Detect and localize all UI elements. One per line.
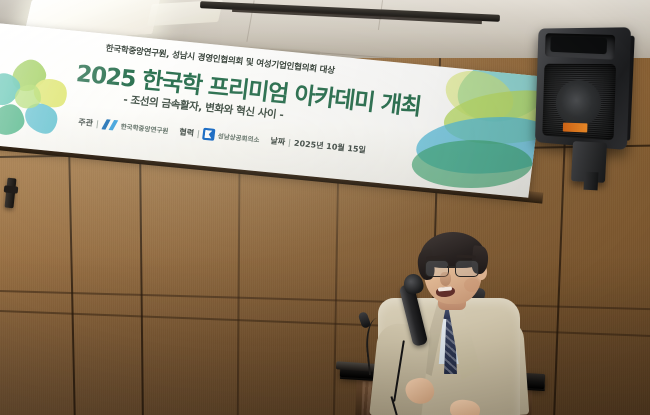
akse-logo-icon [101, 118, 118, 130]
banner-separator: | [196, 129, 200, 138]
eyeglasses-lens-right [455, 260, 479, 277]
banner-separator: | [288, 138, 292, 147]
banner-partner-org: 성남상공회의소 [217, 130, 260, 144]
pa-speaker-mount-arm [584, 172, 599, 191]
pa-speaker-handle-recess [550, 36, 607, 54]
speaker-cheek [464, 278, 480, 292]
banner-separator: | [95, 119, 99, 128]
banner-partner-label: 협력 [179, 126, 195, 138]
banner-date-value: 2025년 10월 15일 [293, 137, 366, 155]
pa-speaker-brand-logo-icon [563, 123, 588, 133]
wall-bracket-fixture-cap [4, 185, 19, 193]
speaker-person [376, 228, 526, 415]
pa-speaker [528, 24, 644, 184]
banner-petal-logo [0, 56, 73, 148]
eyeglasses-bridge [447, 266, 455, 268]
banner-host-label: 주관 [78, 116, 94, 128]
banner-date-group: 날짜 | 2025년 10월 15일 [270, 135, 367, 155]
banner-host-group: 주관 | 한국학중앙연구원 [78, 116, 169, 136]
ribbon-shape [411, 140, 532, 189]
banner-footer: 주관 | 한국학중앙연구원 협력 | 성남상공회의소 날짜 | 2025년 10… [78, 116, 367, 156]
eyeglasses-icon [424, 260, 482, 275]
photo-scene: 한국학중앙연구원, 성남시 경영인협의회 및 여성기업인협의회 대상 2025 … [0, 0, 650, 415]
banner-date-label: 날짜 [270, 135, 286, 147]
speaker-nose [440, 272, 451, 286]
banner-host-org: 한국학중앙연구원 [120, 121, 169, 136]
chamber-of-commerce-logo-icon [202, 128, 215, 141]
banner-partner-group: 협력 | 성남상공회의소 [179, 125, 261, 145]
